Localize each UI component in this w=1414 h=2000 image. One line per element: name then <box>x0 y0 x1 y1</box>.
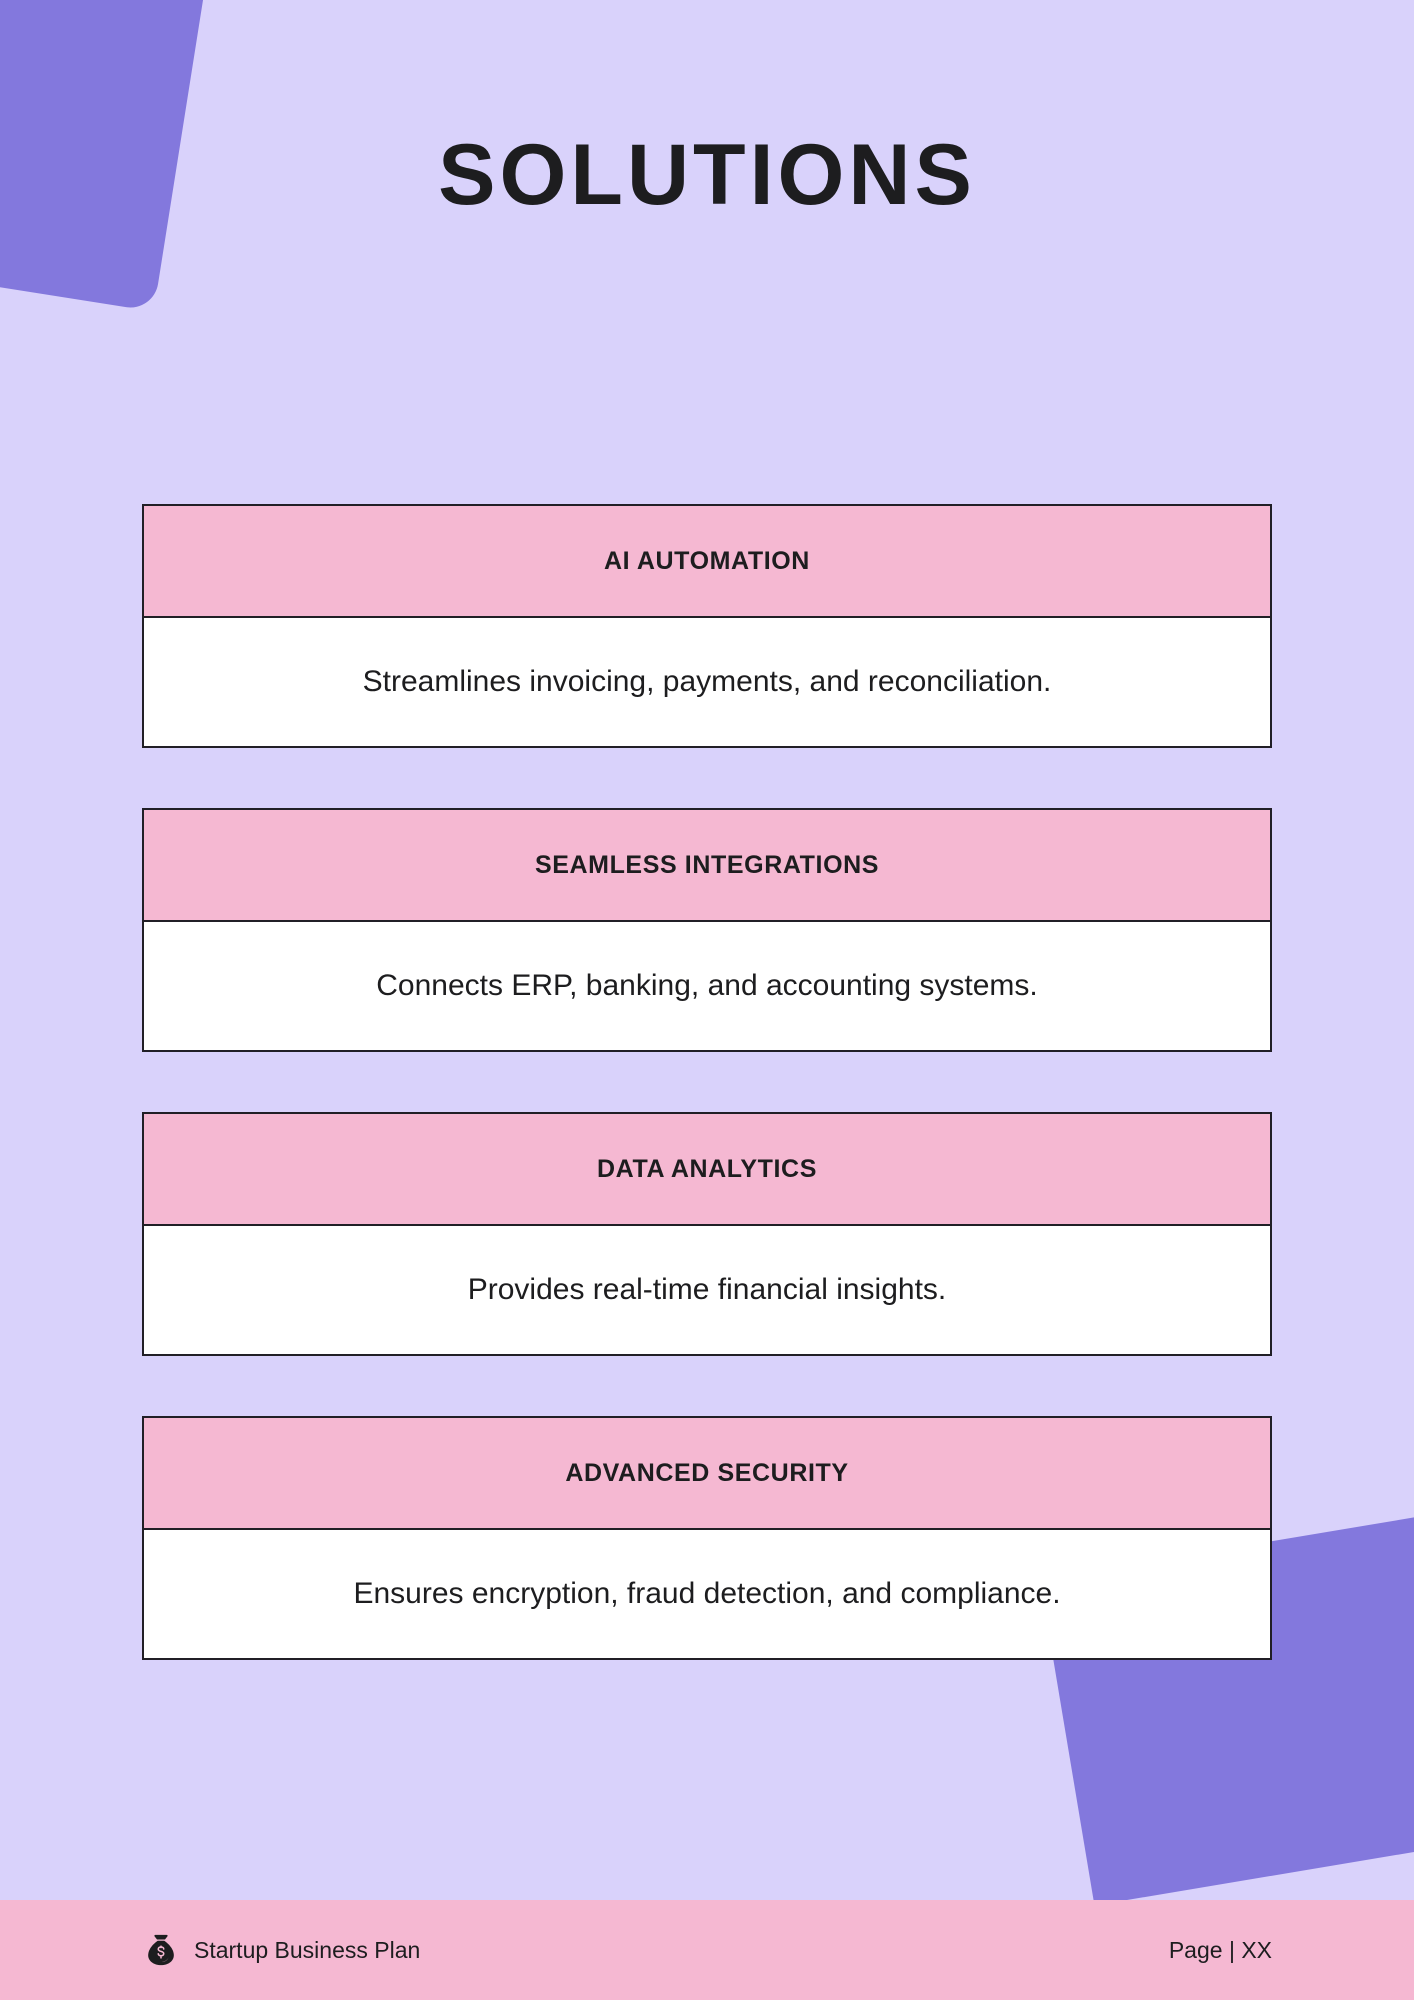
solution-card-title: DATA ANALYTICS <box>142 1112 1272 1226</box>
footer-brand-label: Startup Business Plan <box>194 1937 420 1964</box>
slide-page: SOLUTIONS AI AUTOMATION Streamlines invo… <box>0 0 1414 2000</box>
solution-card-description: Connects ERP, banking, and accounting sy… <box>142 922 1272 1052</box>
footer-brand: Startup Business Plan <box>142 1931 420 1969</box>
solution-card: AI AUTOMATION Streamlines invoicing, pay… <box>142 504 1272 748</box>
money-bag-icon <box>142 1931 180 1969</box>
solution-card-title: AI AUTOMATION <box>142 504 1272 618</box>
solution-card: ADVANCED SECURITY Ensures encryption, fr… <box>142 1416 1272 1660</box>
page-title: SOLUTIONS <box>0 132 1414 218</box>
solution-card-title: SEAMLESS INTEGRATIONS <box>142 808 1272 922</box>
page-footer: Startup Business Plan Page | XX <box>0 1900 1414 2000</box>
solution-card-title: ADVANCED SECURITY <box>142 1416 1272 1530</box>
solutions-card-list: AI AUTOMATION Streamlines invoicing, pay… <box>142 504 1272 1660</box>
solution-card-description: Provides real-time financial insights. <box>142 1226 1272 1356</box>
solution-card: SEAMLESS INTEGRATIONS Connects ERP, bank… <box>142 808 1272 1052</box>
solution-card-description: Ensures encryption, fraud detection, and… <box>142 1530 1272 1660</box>
solution-card: DATA ANALYTICS Provides real-time financ… <box>142 1112 1272 1356</box>
solution-card-description: Streamlines invoicing, payments, and rec… <box>142 618 1272 748</box>
footer-page-number: Page | XX <box>1169 1937 1272 1964</box>
